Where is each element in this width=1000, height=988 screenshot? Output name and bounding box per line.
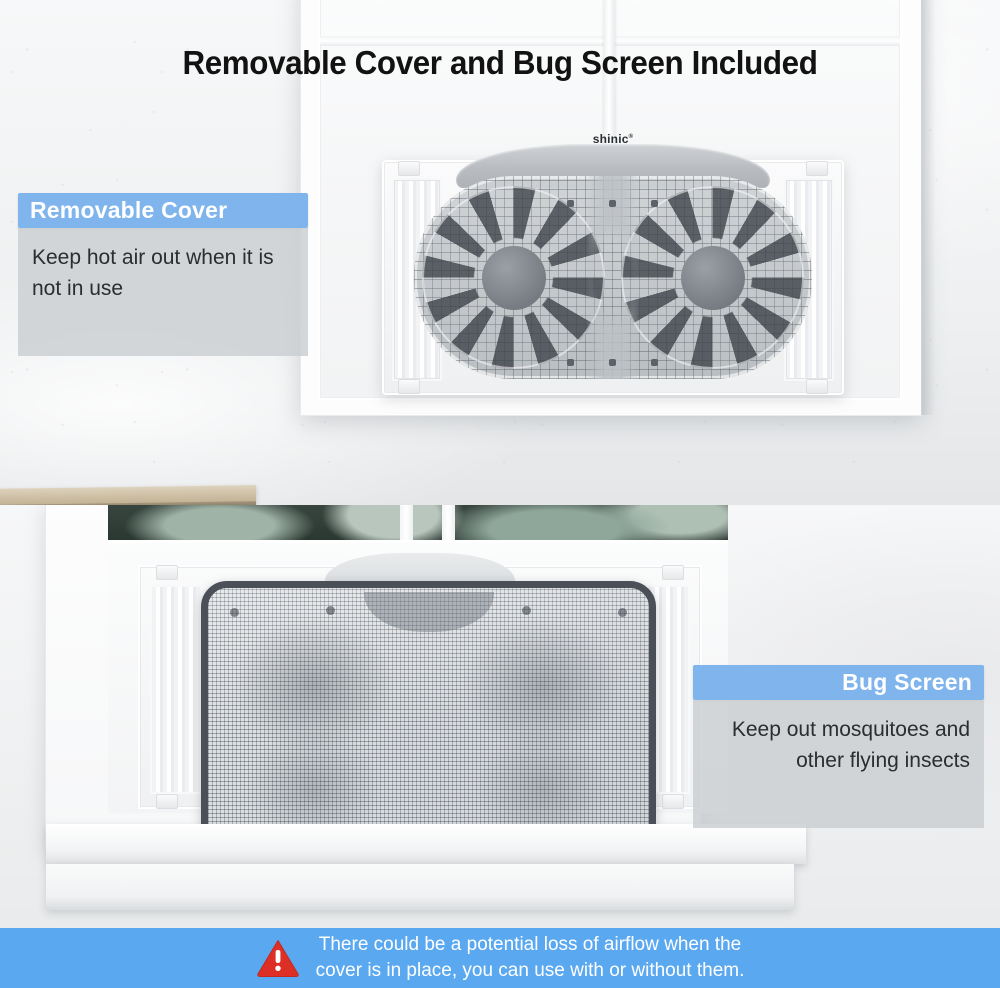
callout-removable-cover: Removable Cover Keep hot air out when it… — [18, 193, 308, 356]
control-indicator — [651, 359, 658, 366]
window-apron-molding — [46, 864, 794, 910]
mounting-clip — [398, 161, 420, 176]
callout-body-removable-cover: Keep hot air out when it is not in use — [18, 228, 308, 356]
brand-logo: shinic® — [456, 132, 770, 146]
mounting-clip — [806, 161, 828, 176]
control-panel-top — [553, 184, 673, 214]
mounting-clip — [156, 565, 178, 580]
page-title: Removable Cover and Bug Screen Included — [25, 44, 975, 82]
bug-screen-fastener — [230, 608, 239, 617]
warning-triangle-icon — [256, 938, 300, 978]
product-feature-image: shinic® — [0, 0, 1000, 988]
twin-fan-grille — [414, 176, 812, 379]
callout-bug-screen: Bug Screen Keep out mosquitoes and other… — [693, 665, 984, 828]
mounting-clip — [398, 379, 420, 394]
window-sill — [46, 824, 806, 864]
mounting-clip — [156, 794, 178, 809]
registered-mark: ® — [629, 134, 634, 140]
control-indicator — [567, 359, 574, 366]
accordion-extender-left — [150, 585, 202, 794]
mounting-clip — [806, 379, 828, 394]
mounting-clip — [662, 565, 684, 580]
window-mullion — [400, 505, 413, 540]
callout-heading-removable-cover: Removable Cover — [18, 193, 308, 228]
control-indicator — [651, 200, 658, 207]
control-indicator — [609, 200, 616, 207]
control-indicator — [567, 200, 574, 207]
callout-body-bug-screen: Keep out mosquitoes and other flying ins… — [693, 700, 984, 828]
bug-screen-fastener — [326, 606, 335, 615]
window-glass-upper — [108, 505, 728, 540]
window-frame-bottom — [45, 505, 702, 850]
foliage-view — [108, 505, 728, 540]
window-mullion — [442, 505, 455, 540]
callout-heading-bug-screen: Bug Screen — [693, 665, 984, 700]
window-fan-unit: shinic® — [382, 160, 844, 395]
notice-text: There could be a potential loss of airfl… — [316, 932, 745, 984]
bug-screen-fastener — [618, 608, 627, 617]
brand-name: shinic — [593, 132, 629, 146]
mounting-clip — [662, 794, 684, 809]
window-lower-opening — [108, 540, 728, 813]
control-panel-bottom — [553, 343, 673, 373]
notice-banner: There could be a potential loss of airfl… — [0, 928, 1000, 988]
bug-screen-fastener — [522, 606, 531, 615]
control-indicator — [609, 359, 616, 366]
notice-line-1: There could be a potential loss of airfl… — [316, 932, 745, 958]
notice-line-2: cover is in place, you can use with or w… — [316, 958, 745, 984]
